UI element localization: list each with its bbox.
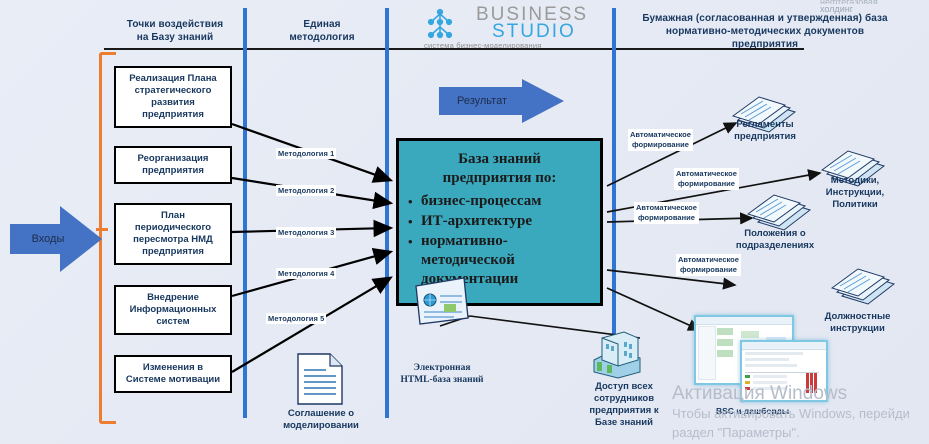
auto-label-3-line1: Автоматическое bbox=[636, 203, 697, 213]
impact-box-1-line2: стратегического bbox=[129, 85, 216, 97]
impact-box-3[interactable]: План периодического пересмотра НМД предп… bbox=[114, 203, 232, 265]
result-arrow: Результат bbox=[438, 78, 566, 124]
watermark-title: Активация Windows bbox=[672, 383, 847, 405]
auto-label-4-line1: Автоматическое bbox=[678, 255, 739, 265]
impact-box-1-line4: предприятия bbox=[129, 109, 216, 121]
impact-box-2[interactable]: Реорганизация предприятия bbox=[114, 146, 232, 184]
impact-box-4[interactable]: Внедрение Информационных систем bbox=[114, 285, 232, 335]
methodology-label-2: Методология 2 bbox=[276, 185, 336, 196]
impact-box-1-line1: Реализация Плана bbox=[129, 73, 216, 85]
doc-caption-methods-line3: Политики bbox=[800, 199, 910, 211]
access-caption-line4: Базе знаний bbox=[570, 417, 678, 429]
impact-box-1[interactable]: Реализация Плана стратегического развити… bbox=[114, 66, 232, 128]
paper-base-line2: нормативно-методических документов bbox=[615, 25, 915, 38]
html-page-icon bbox=[414, 274, 470, 326]
doc-caption-regulations-line2: предприятия bbox=[710, 131, 820, 143]
doc-caption-provisions: Положения о подразделениях bbox=[705, 228, 845, 252]
impact-box-3-line2: периодического bbox=[133, 222, 213, 234]
impact-box-3-line3: пересмотра НМД bbox=[133, 234, 213, 246]
impact-box-3-line4: предприятия bbox=[133, 246, 213, 258]
auto-label-3: Автоматическое формирование bbox=[634, 202, 699, 224]
methodology-head-line2: методология bbox=[257, 31, 387, 44]
doc-caption-regulations-line1: Регламенты bbox=[710, 119, 820, 131]
document-stack-icon bbox=[828, 268, 900, 312]
kb-item-2: ИТ-архитектуре bbox=[421, 212, 594, 231]
methodology-label-1: Методология 1 bbox=[276, 148, 336, 159]
agreement-caption-line2: моделировании bbox=[262, 420, 380, 432]
auto-label-2: Автоматическое формирование bbox=[674, 168, 739, 190]
methodology-head-line1: Единая bbox=[257, 18, 387, 31]
auto-label-3-line2: формирование bbox=[636, 213, 697, 223]
impact-box-1-line3: развития bbox=[129, 97, 216, 109]
column-header-impact-points: Точки воздействия на Базу знаний bbox=[110, 18, 240, 44]
inputs-arrow: Входы bbox=[8, 203, 104, 275]
watermark-line2: Чтобы активировать Windows, перейди bbox=[672, 406, 910, 421]
document-page-icon bbox=[296, 352, 344, 406]
html-kb-caption: Электронная HTML-база знаний bbox=[378, 362, 506, 386]
impact-box-4-line1: Внедрение bbox=[130, 292, 217, 304]
kb-title-line2: предприятия по: bbox=[399, 169, 600, 188]
auto-label-4: Автоматическое формирование bbox=[676, 254, 741, 276]
impact-box-4-line2: Информационных bbox=[130, 304, 217, 316]
inputs-arrow-label: Входы bbox=[0, 203, 96, 275]
auto-label-4-line2: формирование bbox=[678, 265, 739, 275]
doc-caption-methods-line1: Методики, bbox=[800, 175, 910, 187]
access-caption: Доступ всех сотрудников предприятия к Ба… bbox=[570, 381, 678, 429]
holding-line2: холдинг bbox=[820, 4, 925, 15]
impact-box-5-line1: Изменения в bbox=[126, 362, 220, 374]
access-caption-line3: предприятия к bbox=[570, 405, 678, 417]
holding-logo-text: нефтегазовая холдинг bbox=[820, 0, 925, 15]
impact-box-5[interactable]: Изменения в Системе мотивации bbox=[114, 355, 232, 393]
network-nodes-icon bbox=[424, 8, 470, 40]
kb-item-3-line2: методической bbox=[421, 252, 515, 268]
doc-caption-regulations: Регламенты предприятия bbox=[710, 119, 820, 143]
header-underline bbox=[104, 48, 804, 50]
doc-caption-methods-line2: Инструкции, bbox=[800, 187, 910, 199]
impact-points-line1: Точки воздействия bbox=[110, 18, 240, 31]
kb-title-line1: База знаний bbox=[399, 150, 600, 169]
column-header-methodology: Единая методология bbox=[257, 18, 387, 44]
access-caption-line2: сотрудников bbox=[570, 393, 678, 405]
agreement-caption: Соглашение о моделировании bbox=[262, 408, 380, 432]
auto-label-2-line2: формирование bbox=[676, 179, 737, 189]
column-header-paper-base: Бумажная (согласованная и утвержденная) … bbox=[615, 12, 915, 51]
html-kb-caption-line2: HTML-база знаний bbox=[378, 374, 506, 386]
kb-title: База знаний предприятия по: bbox=[399, 150, 600, 188]
building-icon bbox=[588, 328, 650, 378]
html-kb-caption-line1: Электронная bbox=[378, 362, 506, 374]
kb-item-1: бизнес-процессам bbox=[421, 192, 594, 211]
impact-box-3-line1: План bbox=[133, 210, 213, 222]
divider-4 bbox=[612, 60, 616, 360]
impact-box-4-line3: систем bbox=[130, 316, 217, 328]
kb-item-3-line1: нормативно- bbox=[421, 233, 508, 249]
access-caption-line1: Доступ всех bbox=[570, 381, 678, 393]
methodology-label-4: Методология 4 bbox=[276, 268, 336, 279]
methodology-label-5: Методология 5 bbox=[266, 313, 326, 324]
divider-3 bbox=[612, 8, 616, 60]
methodology-label-3: Методология 3 bbox=[276, 227, 336, 238]
brand-word-studio: STUDIO bbox=[492, 23, 576, 40]
divider-1 bbox=[243, 8, 247, 418]
doc-caption-provisions-line2: подразделениях bbox=[705, 240, 845, 252]
watermark-line3: раздел "Параметры". bbox=[672, 425, 800, 440]
impact-box-5-line2: Системе мотивации bbox=[126, 374, 220, 386]
business-studio-logo: BUSINESS STUDIO система бизнес-моделиров… bbox=[418, 6, 578, 48]
divider-2 bbox=[385, 8, 389, 418]
doc-caption-methods: Методики, Инструкции, Политики bbox=[800, 175, 910, 211]
doc-caption-provisions-line1: Положения о bbox=[705, 228, 845, 240]
impact-box-2-line2: предприятия bbox=[138, 165, 209, 177]
result-arrow-label: Результат bbox=[418, 78, 546, 124]
slide-canvas: Точки воздействия на Базу знаний Единая … bbox=[0, 0, 929, 444]
auto-label-1-line1: Автоматическое bbox=[630, 130, 691, 140]
impact-box-2-line1: Реорганизация bbox=[138, 153, 209, 165]
auto-label-1-line2: формирование bbox=[630, 140, 691, 150]
auto-label-2-line1: Автоматическое bbox=[676, 169, 737, 179]
impact-points-line2: на Базу знаний bbox=[110, 31, 240, 44]
auto-label-1: Автоматическое формирование bbox=[628, 129, 693, 151]
agreement-caption-line1: Соглашение о bbox=[262, 408, 380, 420]
